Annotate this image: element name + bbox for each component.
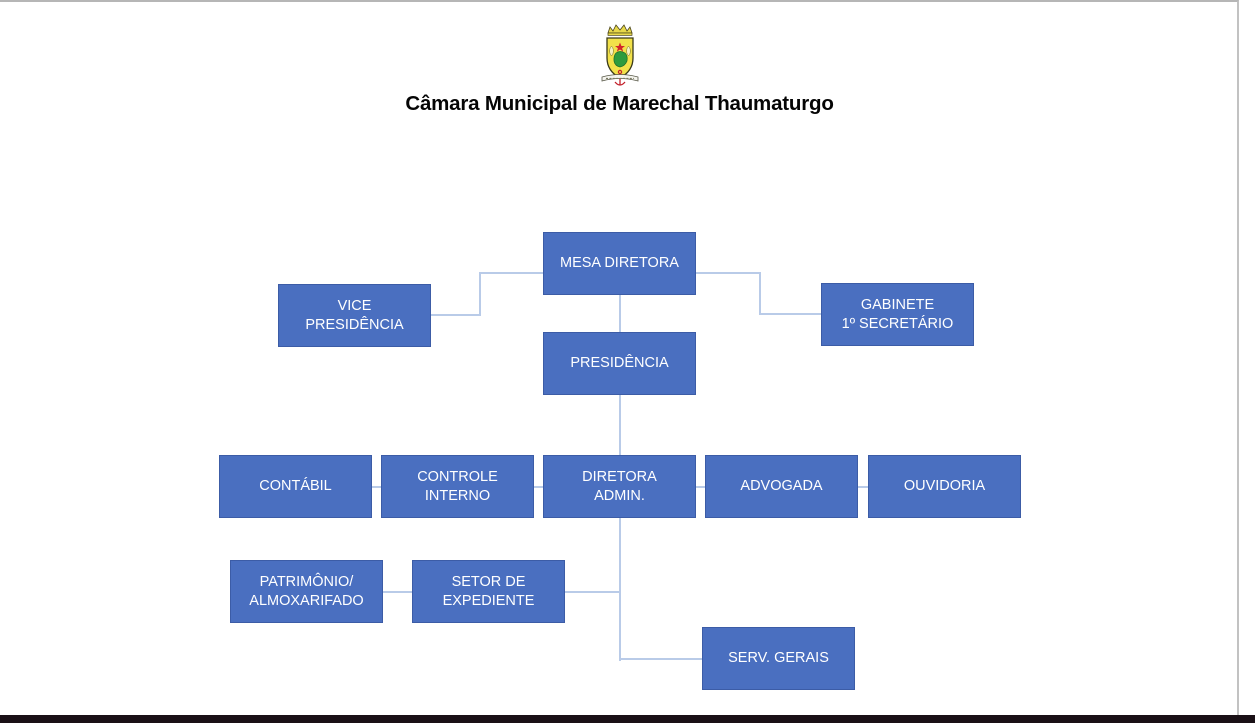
org-node-contabil[interactable]: CONTÁBIL [219,455,372,518]
page-gutter [1241,0,1255,715]
org-node-patrimonio-almoxarifado[interactable]: PATRIMÔNIO/ ALMOXARIFADO [230,560,383,623]
org-node-advogada[interactable]: ADVOGADA [705,455,858,518]
org-node-ouvidoria[interactable]: OUVIDORIA [868,455,1021,518]
org-node-mesa-diretora[interactable]: MESA DIRETORA [543,232,696,295]
connector-mesa-presidencia [619,293,621,334]
org-chart: MESA DIRETORA VICE PRESIDÊNCIA GABINETE … [0,2,1239,717]
connector-presidencia-diretora [619,393,621,457]
connector-spine-servgerais [619,658,704,660]
org-chart-screen: Câmara Municipal de Marechal Thaumaturgo [0,0,1255,723]
connector-vice-mesa-h1 [431,314,480,316]
connector-vice-mesa-v [479,272,481,316]
org-node-gabinete-primeiro-secretario[interactable]: GABINETE 1º SECRETÁRIO [821,283,974,346]
connector-expediente-spine [564,591,621,593]
connector-mesa-gabinete-v [759,272,761,315]
org-node-diretora-admin[interactable]: DIRETORA ADMIN. [543,455,696,518]
connector-patrimonio-expediente [382,591,414,593]
org-node-serv-gerais[interactable]: SERV. GERAIS [702,627,855,690]
bottom-bar [0,715,1255,723]
connector-mesa-gabinete-h1 [695,272,761,274]
org-node-presidencia[interactable]: PRESIDÊNCIA [543,332,696,395]
connector-vice-mesa-h2 [479,272,545,274]
connector-mesa-gabinete-h2 [759,313,823,315]
org-node-vice-presidencia[interactable]: VICE PRESIDÊNCIA [278,284,431,347]
org-node-setor-de-expediente[interactable]: SETOR DE EXPEDIENTE [412,560,565,623]
page-sheet: Câmara Municipal de Marechal Thaumaturgo [0,0,1239,715]
connector-diretora-spine [619,516,621,661]
org-node-controle-interno[interactable]: CONTROLE INTERNO [381,455,534,518]
